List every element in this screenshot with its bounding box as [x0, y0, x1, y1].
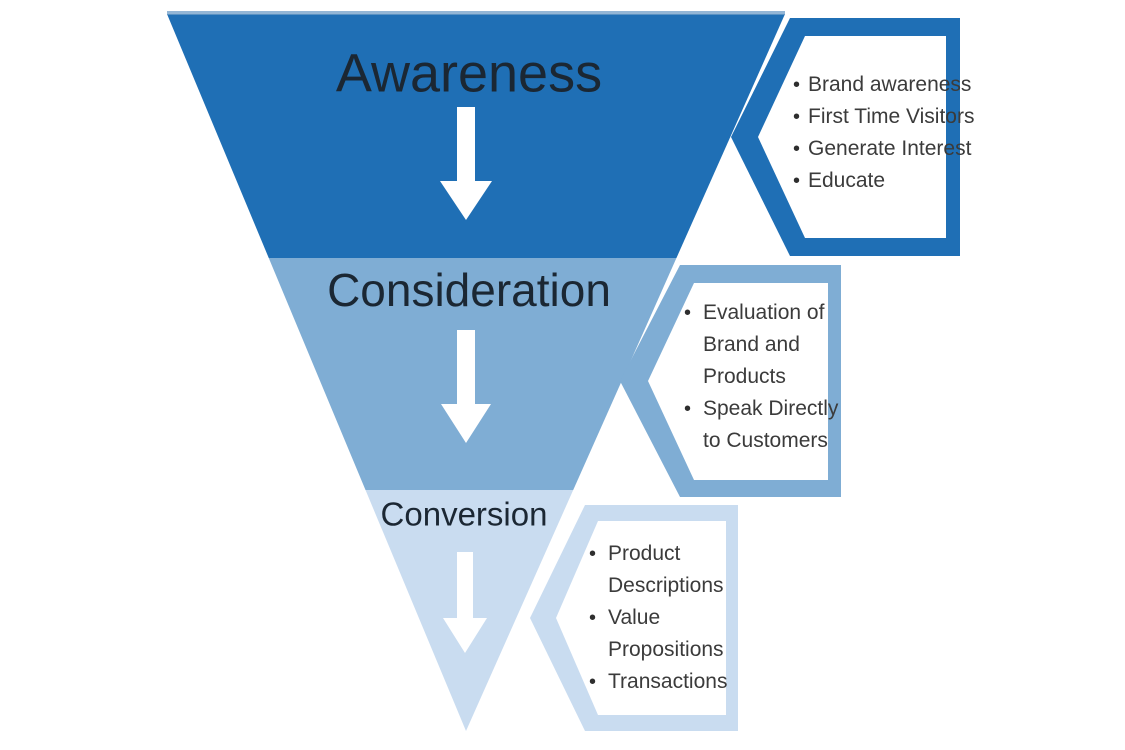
funnel-top-edge — [167, 11, 785, 15]
awareness-item-1: First Time Visitors — [808, 105, 974, 128]
bullet-icon: • — [684, 302, 691, 324]
conversion-callout[interactable]: • Product Descriptions • Value Propositi… — [530, 505, 738, 731]
consideration-item-1-line-0: Speak Directly — [703, 397, 839, 420]
awareness-item-3: Educate — [808, 169, 885, 192]
bullet-icon: • — [589, 671, 596, 693]
conversion-item-1-line-1: Propositions — [608, 638, 724, 661]
conversion-item-1-line-0: Value — [608, 606, 660, 629]
conversion-item-0-line-0: Product — [608, 542, 681, 565]
bullet-icon: • — [684, 398, 691, 420]
awareness-callout[interactable]: • Brand awareness • First Time Visitors … — [731, 18, 974, 256]
consideration-item-0-line-1: Brand and — [703, 333, 800, 356]
awareness-item-2: Generate Interest — [808, 137, 972, 160]
consideration-item-1-line-1: to Customers — [703, 429, 828, 452]
bullet-icon: • — [793, 138, 800, 160]
bullet-icon: • — [793, 170, 800, 192]
bullet-icon: • — [793, 74, 800, 96]
stage-label-consideration: Consideration — [327, 264, 611, 316]
awareness-item-0: Brand awareness — [808, 73, 971, 96]
bullet-icon: • — [793, 106, 800, 128]
funnel-diagram: Awareness Consideration Conversion • Bra… — [0, 0, 1125, 750]
consideration-item-0-line-2: Products — [703, 365, 786, 388]
bullet-icon: • — [589, 607, 596, 629]
consideration-item-0-line-0: Evaluation of — [703, 301, 825, 324]
conversion-item-0-line-1: Descriptions — [608, 574, 724, 597]
conversion-item-2-line-0: Transactions — [608, 670, 727, 693]
bullet-icon: • — [589, 543, 596, 565]
stage-label-conversion: Conversion — [381, 496, 548, 533]
diagram-canvas: Awareness Consideration Conversion • Bra… — [0, 0, 1125, 750]
stage-label-awareness: Awareness — [336, 43, 602, 103]
